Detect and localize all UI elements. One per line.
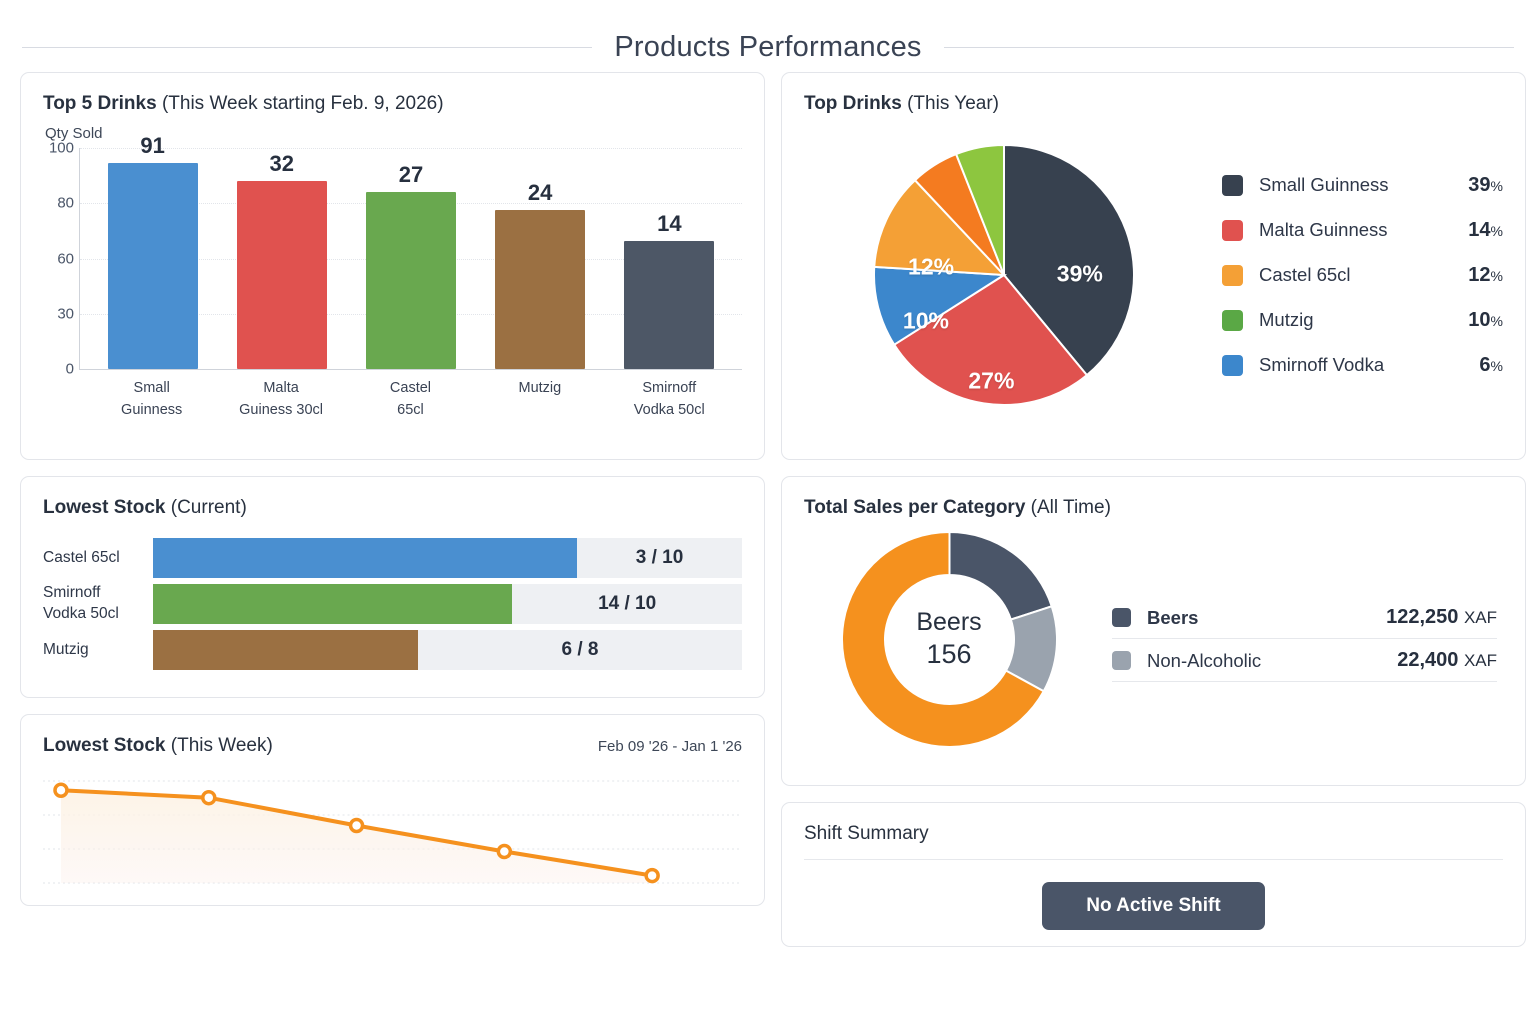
y-axis-tick: 0 [42, 361, 74, 378]
x-axis-label: MaltaGuiness 30cl [236, 378, 326, 422]
bar-rect[interactable] [237, 181, 327, 369]
top-5-drinks-title-sub: (This Week starting Feb. 9, 2026) [157, 93, 444, 114]
bar-value-label: 91 [140, 133, 164, 159]
y-axis-tick: 80 [42, 195, 74, 212]
bar-rect[interactable] [495, 210, 585, 369]
donut-center-count: 156 [916, 638, 981, 671]
header-rule-right [944, 47, 1514, 48]
donut-center-label: Beers 156 [916, 607, 981, 670]
lowest-stock-week-plot [43, 773, 742, 893]
card-lowest-stock-week: Lowest Stock (This Week) Feb 09 '26 - Ja… [20, 714, 765, 906]
bar-item[interactable]: 32 [237, 148, 327, 369]
y-axis-tick: 60 [42, 250, 74, 267]
bar-value-label: 14 [657, 211, 681, 237]
pie-legend-row[interactable]: Smirnoff Vodka6% [1222, 343, 1503, 388]
data-point-marker[interactable] [498, 845, 510, 857]
bar-item[interactable]: 27 [366, 148, 456, 369]
data-point-marker[interactable] [55, 784, 67, 796]
legend-item-percent: 10% [1468, 309, 1503, 332]
donut-legend: Beers122,250 XAFNon-Alcoholic22,400 XAF [1094, 596, 1503, 682]
top-drinks-body: 39%27%10%12% Small Guinness39%Malta Guin… [804, 119, 1503, 431]
pie-slice-label: 12% [908, 253, 954, 280]
lowest-stock-current-title-main: Lowest Stock [43, 497, 165, 518]
y-axis-tick: 30 [42, 305, 74, 322]
donut-chart[interactable]: Beers 156 [804, 532, 1094, 747]
y-axis-tick: 100 [42, 140, 74, 157]
line-chart-svg [43, 773, 742, 893]
stock-progress-fill [153, 630, 418, 670]
bar-group: 9132272414 [80, 148, 742, 369]
pie-legend-row[interactable]: Castel 65cl12% [1222, 253, 1503, 298]
card-total-sales-category: Total Sales per Category (All Time) Beer… [781, 476, 1526, 786]
donut-legend-row[interactable]: Non-Alcoholic22,400 XAF [1112, 639, 1497, 682]
stock-progress-track: 6 / 8 [153, 630, 742, 670]
x-axis-label: Small Guinness [107, 378, 197, 422]
stock-value-label: 14 / 10 [598, 593, 656, 615]
card-shift-summary: Shift Summary No Active Shift [781, 802, 1526, 947]
legend-color-swatch [1112, 651, 1131, 670]
card-top-drinks-pie: Top Drinks (This Year) 39%27%10%12% Smal… [781, 72, 1526, 460]
total-sales-title: Total Sales per Category (All Time) [804, 497, 1503, 519]
stock-value-label: 3 / 10 [636, 547, 684, 569]
card-lowest-stock-current: Lowest Stock (Current) Castel 65cl3 / 10… [20, 476, 765, 698]
data-point-marker[interactable] [646, 870, 658, 882]
legend-item-label: Smirnoff Vodka [1259, 354, 1479, 376]
no-active-shift-button[interactable]: No Active Shift [1042, 882, 1264, 930]
stock-item-name: SmirnoffVodka 50cl [43, 583, 153, 625]
legend-color-swatch [1222, 220, 1243, 241]
data-point-marker[interactable] [351, 820, 363, 832]
lowest-stock-list: Castel 65cl3 / 10SmirnoffVodka 50cl14 / … [43, 535, 742, 673]
area-fill [61, 790, 652, 883]
stock-value-label: 6 / 8 [562, 639, 599, 661]
lowest-stock-week-header: Lowest Stock (This Week) Feb 09 '26 - Ja… [43, 735, 742, 761]
legend-color-swatch [1222, 265, 1243, 286]
legend-item-label: Mutzig [1259, 309, 1468, 331]
legend-color-swatch [1112, 608, 1131, 627]
dashboard-grid: Top 5 Drinks (This Week starting Feb. 9,… [0, 72, 1536, 947]
pie-legend-row[interactable]: Malta Guinness14% [1222, 208, 1503, 253]
top-5-drinks-x-labels: Small GuinnessMaltaGuiness 30clCastel65c… [79, 370, 742, 422]
top-5-drinks-title: Top 5 Drinks (This Week starting Feb. 9,… [43, 93, 742, 115]
stock-progress-fill [153, 584, 512, 624]
legend-item-label: Malta Guinness [1259, 219, 1468, 241]
top-drinks-title: Top Drinks (This Year) [804, 93, 1503, 115]
lowest-stock-current-title-sub: (Current) [165, 497, 246, 518]
pie-chart[interactable]: 39%27%10%12% [804, 145, 1204, 405]
page-title: Products Performances [614, 31, 921, 64]
x-axis-label: Castel65cl [365, 378, 455, 422]
top-drinks-title-main: Top Drinks [804, 93, 902, 114]
legend-item-label: Small Guinness [1259, 174, 1468, 196]
stock-row: Mutzig6 / 8 [43, 627, 742, 673]
data-point-marker[interactable] [203, 792, 215, 804]
stock-row: Castel 65cl3 / 10 [43, 535, 742, 581]
bar-value-label: 27 [399, 162, 423, 188]
right-column: Top Drinks (This Year) 39%27%10%12% Smal… [781, 72, 1526, 947]
shift-summary-body: No Active Shift [804, 860, 1503, 930]
donut-center-category: Beers [916, 607, 981, 638]
donut-legend-row[interactable]: Beers122,250 XAF [1112, 596, 1497, 639]
date-range-label: Feb 09 '26 - Jan 1 '26 [598, 738, 742, 755]
page-header: Products Performances [0, 0, 1536, 72]
pie-slice-label: 39% [1057, 260, 1103, 287]
total-sales-title-main: Total Sales per Category [804, 497, 1025, 518]
top-5-drinks-title-main: Top 5 Drinks [43, 93, 157, 114]
bar-value-label: 32 [270, 151, 294, 177]
legend-item-value: 22,400 XAF [1397, 649, 1497, 672]
lowest-stock-week-title-sub: (This Week) [165, 735, 272, 756]
left-column: Top 5 Drinks (This Week starting Feb. 9,… [20, 72, 765, 947]
legend-item-percent: 39% [1468, 174, 1503, 197]
legend-color-swatch [1222, 355, 1243, 376]
bar-item[interactable]: 24 [495, 148, 585, 369]
top-drinks-title-sub: (This Year) [902, 93, 999, 114]
stock-item-name: Mutzig [43, 640, 153, 661]
pie-legend-row[interactable]: Small Guinness39% [1222, 163, 1503, 208]
pie-legend: Small Guinness39%Malta Guinness14%Castel… [1214, 163, 1503, 388]
total-sales-title-sub: (All Time) [1025, 497, 1111, 518]
card-top-5-drinks: Top 5 Drinks (This Week starting Feb. 9,… [20, 72, 765, 460]
lowest-stock-current-title: Lowest Stock (Current) [43, 497, 742, 519]
stock-progress-track: 3 / 10 [153, 538, 742, 578]
x-axis-label: SmirnoffVodka 50cl [624, 378, 714, 422]
legend-color-swatch [1222, 310, 1243, 331]
stock-progress-fill [153, 538, 577, 578]
legend-item-percent: 12% [1468, 264, 1503, 287]
donut-arc[interactable] [949, 532, 1051, 620]
stock-item-name: Castel 65cl [43, 548, 153, 569]
bar-item[interactable]: 91 [108, 148, 198, 369]
x-axis-label: Mutzig [495, 378, 585, 422]
legend-color-swatch [1222, 175, 1243, 196]
pie-slice-label: 10% [903, 308, 949, 335]
bar-rect[interactable] [624, 241, 714, 369]
top-5-drinks-plot: 10080603009132272414 [79, 148, 742, 370]
pie-slice-label: 27% [968, 367, 1014, 394]
legend-item-percent: 14% [1468, 219, 1503, 242]
header-rule-left [22, 47, 592, 48]
bar-value-label: 24 [528, 180, 552, 206]
legend-item-percent: 6% [1479, 354, 1503, 377]
legend-item-value: 122,250 XAF [1386, 606, 1497, 629]
legend-item-label: Beers [1147, 607, 1386, 629]
legend-item-label: Castel 65cl [1259, 264, 1468, 286]
bar-item[interactable]: 14 [624, 148, 714, 369]
stock-row: SmirnoffVodka 50cl14 / 10 [43, 581, 742, 627]
shift-summary-title: Shift Summary [804, 823, 1503, 860]
lowest-stock-week-title: Lowest Stock (This Week) [43, 735, 273, 757]
bar-rect[interactable] [366, 192, 456, 369]
bar-rect[interactable] [108, 163, 198, 369]
legend-item-label: Non-Alcoholic [1147, 650, 1397, 672]
pie-legend-row[interactable]: Mutzig10% [1222, 298, 1503, 343]
total-sales-body: Beers 156 Beers122,250 XAFNon-Alcoholic2… [804, 523, 1503, 755]
lowest-stock-week-title-main: Lowest Stock [43, 735, 165, 756]
pie-data-labels: 39%27%10%12% [804, 145, 1204, 405]
stock-progress-track: 14 / 10 [153, 584, 742, 624]
